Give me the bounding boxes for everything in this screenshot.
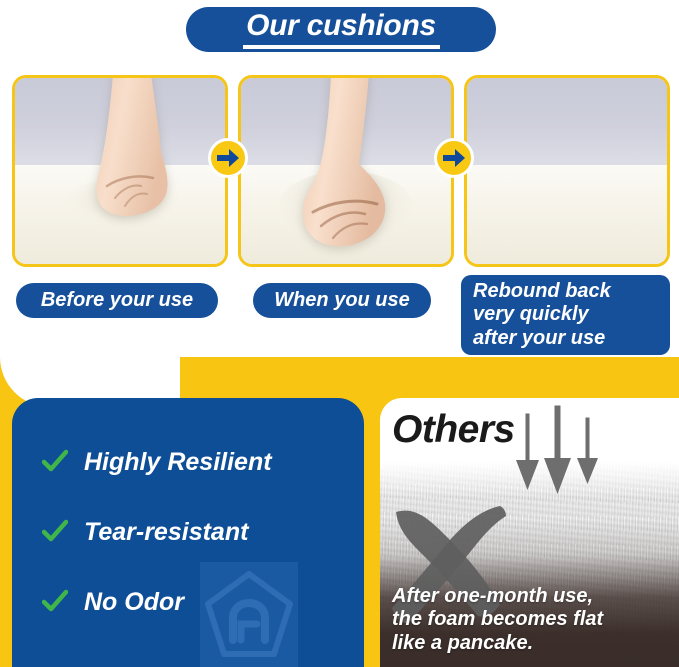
foam-scene-before [15,78,225,264]
step-arrow-2-icon [434,138,474,178]
foam-scene-after [467,78,667,264]
page-title-banner: Our cushions [186,7,496,52]
caption-after-line-1: Rebound back [473,280,611,304]
scene-background [467,78,667,165]
check-icon [42,589,68,615]
demo-photo-before [12,75,228,267]
foam-scene-during [241,78,451,264]
caption-during: When you use [253,283,431,318]
feature-label: Tear-resistant [84,518,248,547]
check-icon [42,519,68,545]
caption-after-line-3: after your use [473,327,605,351]
demo-photo-after [464,75,670,267]
others-panel: Others After o [380,398,679,667]
caption-after-line-2: very quickly [473,303,589,327]
feature-item-highly-resilient: Highly Resilient [42,436,354,488]
feature-label: No Odor [84,588,184,617]
caption-before: Before your use [16,283,218,318]
others-caption-line-1: After one-month use, [392,585,603,608]
demo-photo-during [238,75,454,267]
house-pentagon-logo-icon [200,562,298,667]
check-icon [42,449,68,475]
feature-item-tear-resistant: Tear-resistant [42,506,354,558]
feature-label: Highly Resilient [84,448,272,477]
hand-fist-resting [89,75,175,234]
features-list: Highly Resilient Tear-resistant No Odor [42,436,354,646]
step-arrow-1-icon [208,138,248,178]
others-caption-line-2: the foam becomes flat [392,608,603,631]
hand-fist-pressing [297,75,405,262]
foam-surface-rebounded [467,165,667,264]
infographic-page: Our cushions [0,0,679,667]
caption-after: Rebound back very quickly after your use [461,275,670,355]
others-caption: After one-month use, the foam becomes fl… [392,585,603,655]
page-title: Our cushions [246,11,436,41]
title-underline [243,45,440,49]
features-panel: Highly Resilient Tear-resistant No Odor [12,398,364,667]
feature-item-no-odor: No Odor [42,576,354,628]
others-caption-line-3: like a pancake. [392,632,603,655]
